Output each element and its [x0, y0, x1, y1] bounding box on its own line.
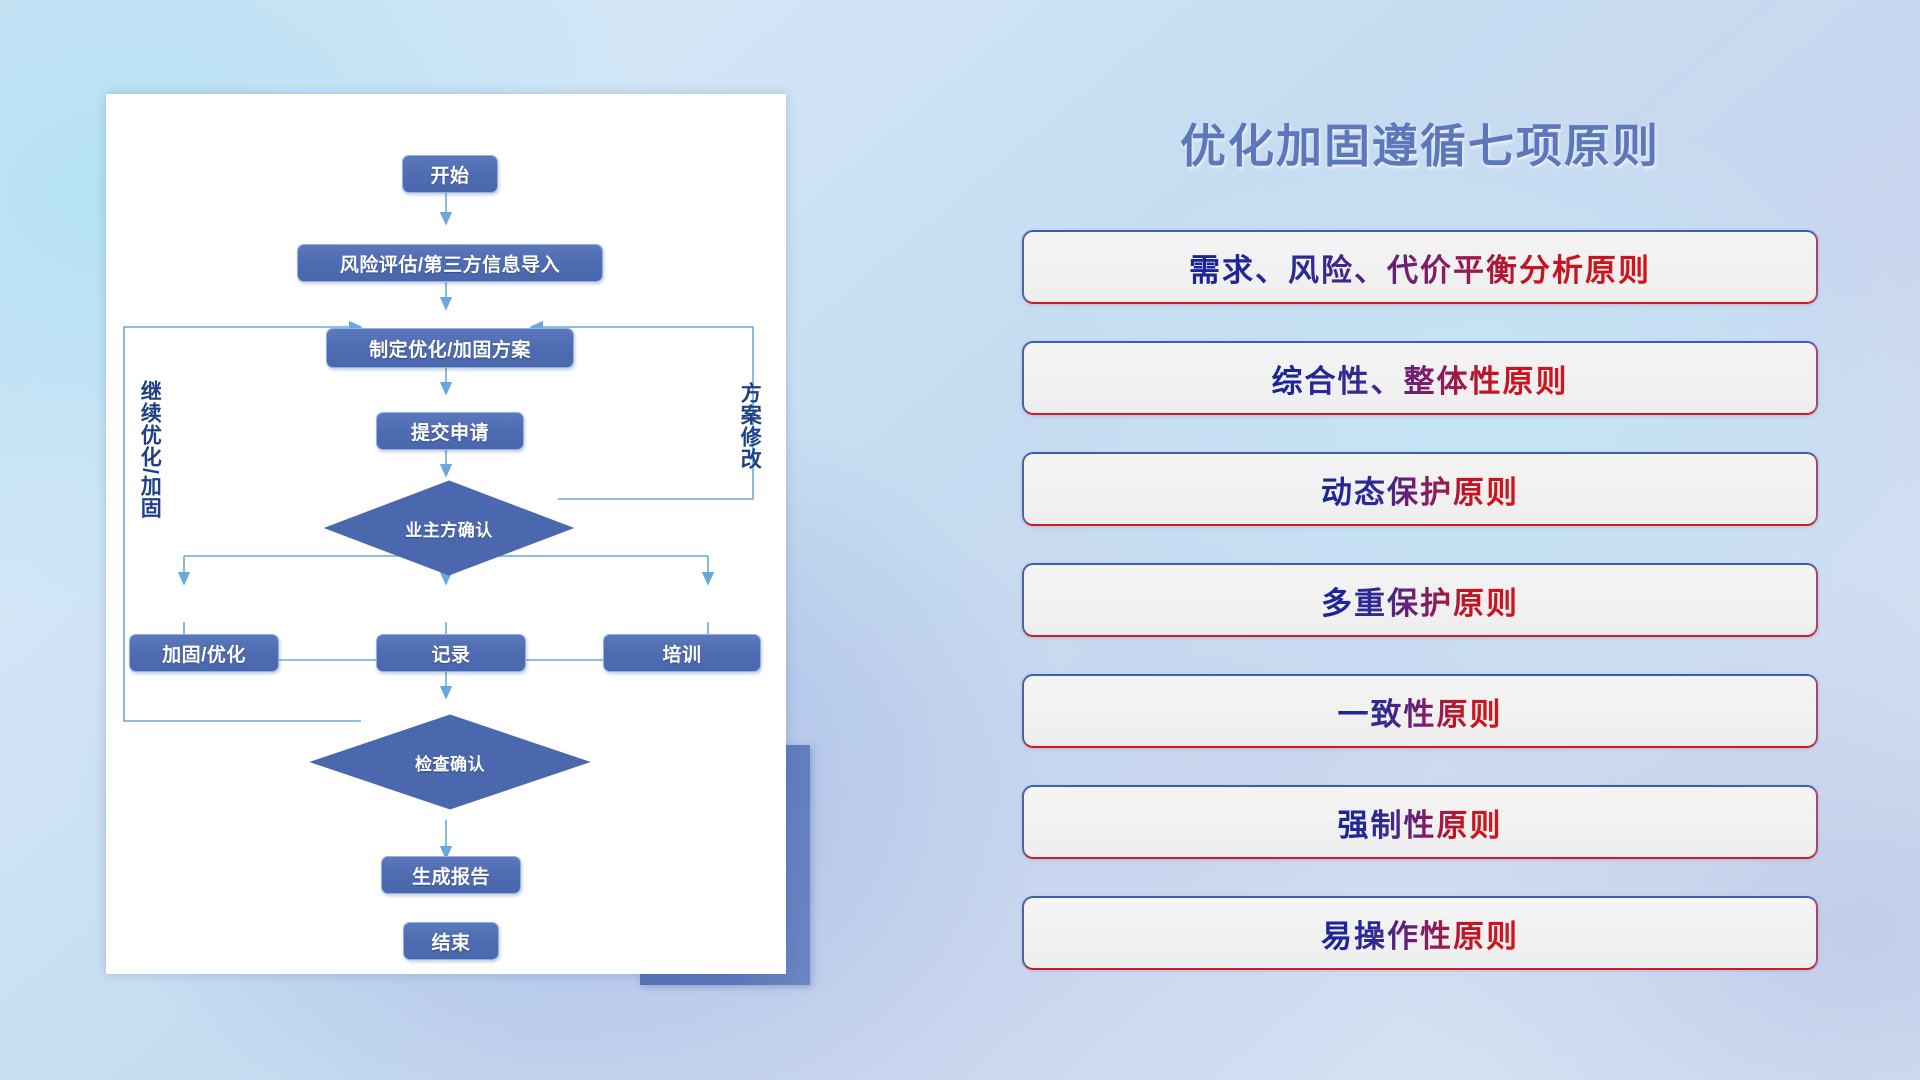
flow-node-end[interactable]: 结束 — [403, 922, 499, 960]
principles-title: 优化加固遵循七项原则 — [1010, 110, 1830, 176]
principle-label: 强制性原则 — [1338, 800, 1503, 845]
flow-node-owner-confirm[interactable]: 业主方确认 — [324, 480, 574, 576]
flow-node-risk-assessment[interactable]: 风险评估/第三方信息导入 — [297, 244, 603, 282]
principle-label: 需求、风险、代价平衡分析原则 — [1189, 245, 1651, 290]
flow-node-submit-application[interactable]: 提交申请 — [376, 412, 524, 450]
flow-node-record[interactable]: 记录 — [376, 634, 526, 672]
principles-list: 需求、风险、代价平衡分析原则 综合性、整体性原则 动态保护原则 多重保护原则 一… — [1022, 230, 1818, 1007]
flow-node-reinforce-optimize[interactable]: 加固/优化 — [129, 634, 279, 672]
principles-panel: 优化加固遵循七项原则 需求、风险、代价平衡分析原则 综合性、整体性原则 动态保护… — [1010, 90, 1830, 1020]
principle-item[interactable]: 动态保护原则 — [1022, 452, 1818, 526]
flow-node-check-confirm[interactable]: 检查确认 — [310, 714, 590, 810]
flow-node-start[interactable]: 开始 — [402, 155, 498, 193]
principle-label: 多重保护原则 — [1321, 578, 1519, 623]
principle-item[interactable]: 一致性原则 — [1022, 674, 1818, 748]
flow-node-make-plan[interactable]: 制定优化/加固方案 — [326, 328, 574, 368]
flow-label-plan-revision: 方案修改 — [738, 382, 760, 502]
principle-label: 动态保护原则 — [1321, 467, 1519, 512]
principle-label: 易操作性原则 — [1321, 911, 1519, 956]
flow-node-training[interactable]: 培训 — [603, 634, 761, 672]
principle-item[interactable]: 强制性原则 — [1022, 785, 1818, 859]
flow-node-generate-report[interactable]: 生成报告 — [381, 856, 521, 894]
principle-label: 综合性、整体性原则 — [1272, 356, 1569, 401]
principle-item[interactable]: 多重保护原则 — [1022, 563, 1818, 637]
principle-item[interactable]: 易操作性原则 — [1022, 896, 1818, 970]
flow-label-continue-optimize: 继续优化/加固 — [138, 380, 160, 550]
principle-label: 一致性原则 — [1338, 689, 1503, 734]
principle-item[interactable]: 综合性、整体性原则 — [1022, 341, 1818, 415]
principle-item[interactable]: 需求、风险、代价平衡分析原则 — [1022, 230, 1818, 304]
